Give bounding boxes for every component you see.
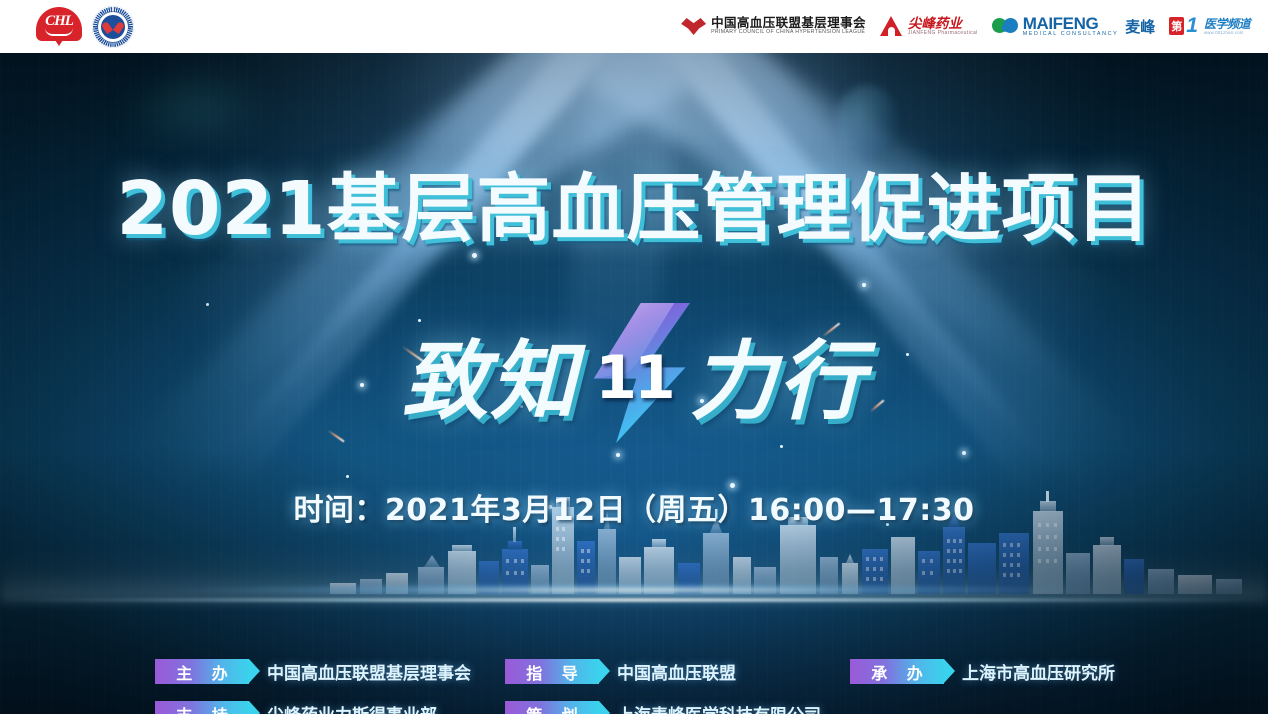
partner-brand-name: MAIFENG <box>1023 15 1119 32</box>
peak-mountain-icon <box>880 16 903 36</box>
seal-heart-icon <box>106 19 120 31</box>
partner-en-name: MEDICAL CONSULTANCY <box>1023 32 1119 38</box>
clasped-hands-icon <box>992 16 1018 36</box>
credit-value: 中国高血压联盟基层理事会 <box>267 659 471 684</box>
credit-badge: 支 持 <box>155 701 249 714</box>
poster-artwork: 2021基层高血压管理促进项目 致知 11 力行 时间：2021年3月12日（周… <box>0 53 1268 714</box>
page-title: 2021基层高血压管理促进项目 <box>0 149 1268 256</box>
credits-block: 主 办 中国高血压联盟基层理事会 指 导 中国高血压联盟 承 办 上海市高血压研… <box>0 653 1268 714</box>
shanghai-institute-seal <box>92 6 134 48</box>
header-partner-logos: 中国高血压联盟基层理事会 PRIMARY COUNCIL OF CHINA HY… <box>681 15 1268 38</box>
credit-row-guidance: 指 导 中国高血压联盟 <box>505 659 736 684</box>
partner-prefix: 第 <box>1169 17 1184 35</box>
credit-row-planning: 策 划 上海麦峰医学科技有限公司 <box>505 701 821 714</box>
subtitle-right-text: 力行 <box>690 311 866 436</box>
horizon-line <box>0 598 1268 602</box>
jianfeng-pharmaceutical-logo: 尖峰药业 JIANFENG Pharmaceutical <box>880 16 978 36</box>
credit-badge: 主 办 <box>155 659 249 684</box>
chl-logo-text: CHL <box>36 13 82 30</box>
credit-row-host: 承 办 上海市高血压研究所 <box>850 659 1115 684</box>
partner-numeral: 1 <box>1186 17 1198 36</box>
header-left-logos: CHL <box>0 5 134 49</box>
first-medical-channel-logo: 第 1 医学频道 www.001zhan.com <box>1169 17 1250 36</box>
credit-value: 尖峰药业力斯得事业部 <box>267 701 437 714</box>
chl-swoosh-icon <box>45 28 73 36</box>
subtitle-row: 致知 11 力行 <box>0 303 1268 443</box>
horizon-glow <box>0 582 1268 598</box>
partner-en-name: PRIMARY COUNCIL OF CHINA HYPERTENSION LE… <box>711 30 866 36</box>
maifeng-medical-consultancy-logo: MAIFENG MEDICAL CONSULTANCY 麦峰 <box>992 15 1156 38</box>
hands-heart-icon <box>681 18 706 35</box>
sparkle-particle <box>962 451 966 455</box>
partner-cn-name: 医学频道 <box>1204 18 1250 31</box>
credit-row-support: 支 持 尖峰药业力斯得事业部 <box>155 701 437 714</box>
partner-url: www.001zhan.com <box>1204 31 1250 35</box>
header-logo-bar: CHL 中国高血压联盟基层理事会 PRIMARY COUNCIL OF CHIN… <box>0 0 1268 53</box>
china-hypertension-league-primary-council-logo: 中国高血压联盟基层理事会 PRIMARY COUNCIL OF CHINA HY… <box>681 17 866 36</box>
sparkle-particle <box>346 475 349 478</box>
credit-value: 中国高血压联盟 <box>617 659 736 684</box>
teal-blob-decoration <box>118 63 268 153</box>
bubble-decoration <box>836 85 898 157</box>
subtitle-left-text: 致知 <box>402 311 578 436</box>
sparkle-particle <box>616 453 620 457</box>
bolt-number: 11 <box>578 343 690 413</box>
lightning-bolt-icon: 11 <box>578 303 690 443</box>
partner-cn-name: 尖峰药业 <box>908 17 978 31</box>
sparkle-particle <box>862 283 866 287</box>
credit-value: 上海麦峰医学科技有限公司 <box>617 701 821 714</box>
credit-value: 上海市高血压研究所 <box>962 659 1115 684</box>
partner-en-name: JIANFENG Pharmaceutical <box>908 31 978 36</box>
partner-cn-name: 麦峰 <box>1125 16 1155 37</box>
credit-row-organizer: 主 办 中国高血压联盟基层理事会 <box>155 659 471 684</box>
poster-screenshot: CHL 中国高血压联盟基层理事会 PRIMARY COUNCIL OF CHIN… <box>0 0 1268 714</box>
event-datetime: 时间：2021年3月12日（周五）16:00—17:30 <box>0 485 1268 529</box>
number-one-icon: 第 1 <box>1169 17 1199 36</box>
credit-badge: 承 办 <box>850 659 944 684</box>
sparkle-particle <box>780 445 783 448</box>
credit-badge: 指 导 <box>505 659 599 684</box>
credit-badge: 策 划 <box>505 701 599 714</box>
chl-heart-logo: CHL <box>36 5 82 49</box>
